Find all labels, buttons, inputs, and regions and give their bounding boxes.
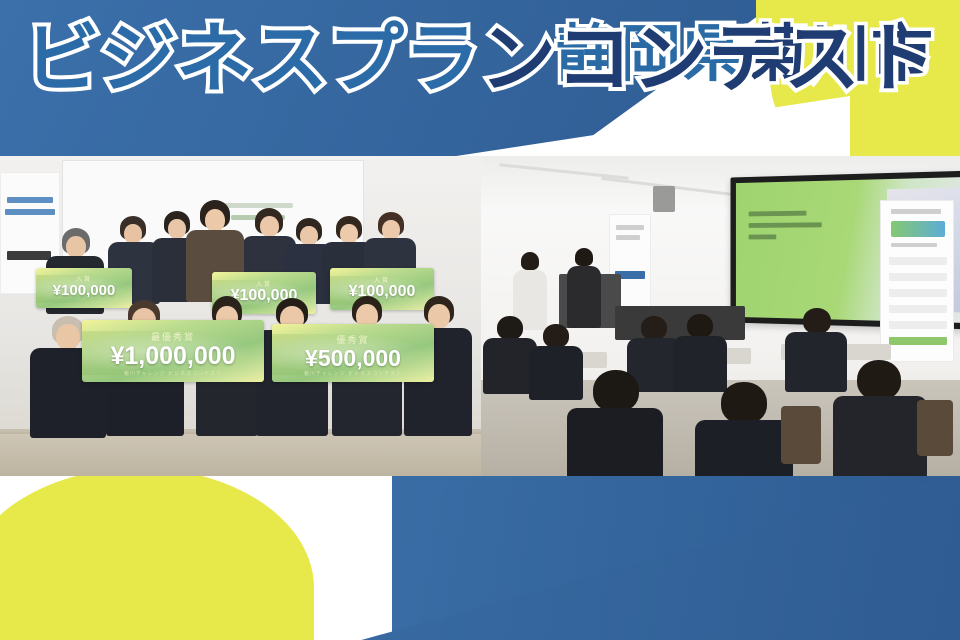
main-title-segment-b: ンコンテスト (480, 17, 936, 102)
banner-sponsor-row (889, 289, 947, 297)
banner-text-line-2 (5, 209, 55, 215)
person-body (673, 336, 727, 392)
person-head (593, 370, 639, 412)
person-head (641, 316, 667, 340)
person-head (575, 248, 593, 266)
main-title: ビジネスプランコンテスト (24, 22, 936, 98)
slide-text-line-1 (749, 211, 807, 217)
banner-sponsor-row (889, 273, 947, 281)
person-body (567, 266, 601, 328)
person-head (543, 324, 569, 348)
slide-text-line-3 (749, 234, 777, 239)
prize-board-amount: ¥100,000 (36, 282, 132, 299)
person-head (803, 308, 831, 334)
prize-board-amount: ¥1,000,000 (82, 342, 264, 371)
bottom-band (0, 474, 960, 640)
person-body (695, 420, 793, 476)
prize-board: 入賞 ¥100,000 (36, 268, 132, 308)
person-head (687, 314, 713, 338)
banner-line (616, 225, 644, 230)
person-face (66, 236, 86, 258)
person-face (382, 220, 400, 240)
person-head (521, 252, 539, 270)
person-head (857, 360, 901, 400)
ceiling-speaker (653, 186, 675, 212)
person-head (721, 382, 767, 424)
person-face (300, 226, 318, 246)
prize-board-grand: 最優秀賞 ¥1,000,000 菊川チャレンジ ビジネスコンテスト (82, 320, 264, 382)
person-face (168, 219, 186, 239)
person-body (833, 396, 927, 476)
standing-banner-right (880, 200, 954, 362)
prize-board-footnote: 菊川チャレンジ ビジネスコンテスト (82, 370, 264, 377)
slide-text-line-2 (749, 222, 822, 228)
keyvisual-banner: 静岡県菊川市 (0, 0, 960, 640)
person-body (567, 408, 663, 476)
prize-board-amount: ¥100,000 (330, 283, 434, 301)
prize-board-footnote: 菊川チャレンジ ビジネスコンテスト (272, 370, 434, 377)
chair (781, 406, 821, 464)
screen-text-line-1 (223, 203, 293, 208)
prize-board: 入賞 ¥100,000 (330, 268, 434, 310)
banner-subtitle-line (891, 243, 937, 247)
prize-board-second: 優秀賞 ¥500,000 菊川チャレンジ ビジネスコンテスト (272, 324, 434, 382)
bottom-yellow-fill (0, 594, 314, 640)
photo-left-floor (0, 432, 481, 476)
banner-title-line (891, 209, 941, 214)
prize-board-label: 最優秀賞 (82, 330, 264, 343)
banner-text-line-3 (7, 251, 51, 260)
banner-sponsor-row (889, 321, 947, 329)
banner-sponsor-row (889, 257, 947, 265)
person-face (260, 216, 279, 237)
banner-text-line-1 (7, 197, 53, 203)
photo-seminar-room (481, 156, 960, 476)
person-face (124, 224, 142, 244)
banner-logo (891, 221, 945, 237)
photo-strip: 入賞 ¥100,000 入賞 ¥100,000 入賞 ¥100,000 (0, 156, 960, 476)
banner-sponsor-row (889, 305, 947, 313)
person-face (205, 209, 225, 232)
prize-board-amount: ¥500,000 (272, 345, 434, 372)
judges-table (615, 306, 745, 340)
chair (917, 400, 953, 456)
person-head (497, 316, 523, 340)
main-title-segment-a: ビジネスプラ (24, 17, 480, 102)
photo-award-ceremony: 入賞 ¥100,000 入賞 ¥100,000 入賞 ¥100,000 (0, 156, 481, 476)
banner-line (616, 235, 640, 240)
banner-sponsor-row (889, 337, 947, 345)
person-face (340, 224, 358, 244)
person-body (785, 332, 847, 392)
person-face (56, 324, 80, 350)
person-body (529, 346, 583, 400)
